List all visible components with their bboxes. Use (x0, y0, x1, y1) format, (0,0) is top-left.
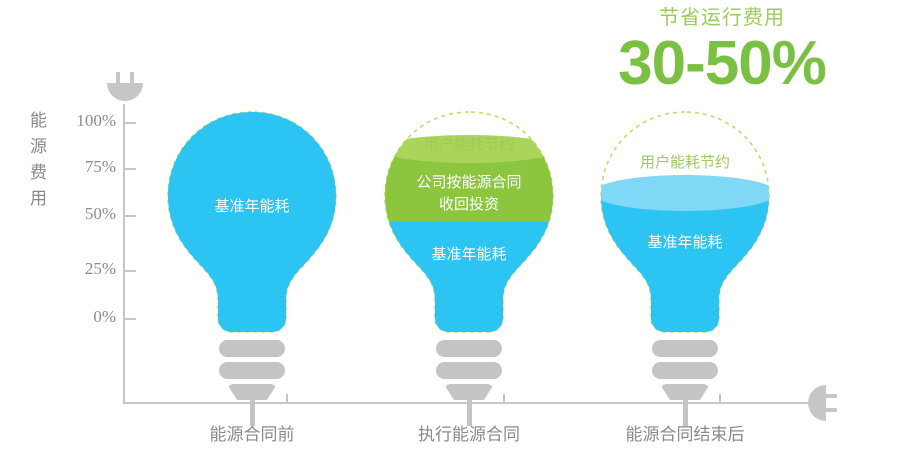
socket-prong-top (824, 394, 837, 398)
bulb-3-base-stem (683, 400, 688, 426)
headline-subtitle: 节省运行费用 (592, 4, 852, 32)
bulb-1-fill-blue (152, 104, 352, 344)
y-axis-line (123, 104, 125, 404)
bulb-1-base-bar-1 (219, 340, 285, 357)
bulb-1-graphic (152, 104, 352, 344)
y-tick-label-25: 25% (62, 259, 116, 279)
bulb-3-base-bar-1 (652, 340, 718, 357)
y-tick-label-50: 50% (62, 204, 116, 224)
bulb-3-graphic (585, 104, 785, 344)
y-tick-0 (124, 318, 136, 320)
y-tick-50 (124, 215, 136, 217)
bulb-3-base (652, 340, 718, 426)
y-tick-label-75: 75% (62, 157, 116, 177)
bulb-3-base-tip (660, 384, 710, 400)
socket-icon (805, 385, 837, 421)
bulb-before-contract: 基准年能耗 (152, 104, 352, 404)
bulb-1-base-tip (227, 384, 277, 400)
plug-cap (107, 83, 143, 101)
y-tick-75 (124, 168, 136, 170)
bulb-after-contract: 用户能耗节约 基准年能耗 (585, 104, 785, 404)
socket-cap (808, 385, 826, 421)
bulb-2-green-surface (379, 135, 559, 163)
plug-icon (107, 72, 143, 104)
y-tick-25 (124, 270, 136, 272)
bulb-1-base-bar-2 (219, 362, 285, 379)
bulb-3-liquid-surface (593, 175, 777, 211)
y-tick-100 (124, 122, 136, 124)
bulb-2-base-tip (444, 384, 494, 400)
bulb-2-base-stem (467, 400, 472, 426)
bulb-2-graphic (369, 104, 569, 344)
bulb-2-base-bar-1 (436, 340, 502, 357)
bulb-1-base-stem (250, 400, 255, 426)
headline: 节省运行费用 30-50% (592, 4, 852, 96)
bulb-2-fill-blue (369, 222, 569, 344)
y-tick-label-100: 100% (62, 111, 116, 131)
y-tick-label-0: 0% (62, 307, 116, 327)
infographic-canvas: 节省运行费用 30-50% 能源费用 100% 75% 50% 25% 0% 能… (0, 0, 900, 473)
bulb-3-fill-blue (585, 192, 785, 344)
y-axis-title: 能源费用 (30, 108, 54, 212)
bulb-3-base-bar-2 (652, 362, 718, 379)
bulb-2-base-bar-2 (436, 362, 502, 379)
bulb-2-base (436, 340, 502, 426)
headline-value: 30-50% (592, 32, 852, 96)
bulb-1-base (219, 340, 285, 426)
bulb-during-contract: 用户能耗节约 公司按能源合同 收回投资 基准年能耗 (369, 104, 569, 404)
socket-prong-bottom (824, 408, 837, 412)
